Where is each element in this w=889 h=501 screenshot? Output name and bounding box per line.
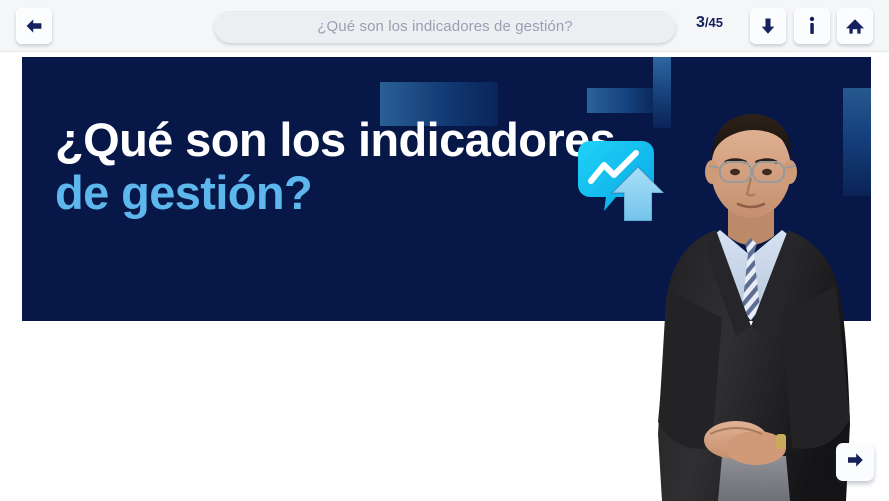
- slide-title: ¿Qué son los indicadores de gestión?: [55, 113, 615, 219]
- arrow-down-icon: [760, 17, 776, 36]
- line-chart-up-arrow-icon: [576, 137, 672, 225]
- decorative-block-right: [843, 88, 871, 196]
- page-counter: 3/45: [696, 14, 723, 32]
- info-button[interactable]: [794, 8, 830, 44]
- search-input[interactable]: ¿Qué son los indicadores de gestión?: [214, 9, 676, 43]
- info-icon: [808, 16, 816, 36]
- decorative-block-horizontal: [587, 88, 653, 113]
- download-button[interactable]: [750, 8, 786, 44]
- back-button[interactable]: [16, 8, 52, 44]
- page-counter-current: 3: [696, 14, 705, 31]
- page-counter-total: /45: [705, 15, 723, 30]
- slide-title-line-1: ¿Qué son los indicadores: [55, 113, 615, 166]
- presentation-viewer: ¿Qué son los indicadores de gestión? 3/4…: [0, 0, 889, 501]
- home-button[interactable]: [837, 8, 873, 44]
- search-placeholder-text: ¿Qué son los indicadores de gestión?: [317, 18, 572, 35]
- home-icon: [845, 17, 865, 36]
- slide-title-line-2: de gestión?: [55, 166, 615, 219]
- arrow-left-icon: [24, 17, 44, 35]
- arrow-right-icon: [844, 451, 866, 474]
- decorative-block-vertical: [653, 57, 671, 128]
- slide-banner: ¿Qué son los indicadores de gestión?: [22, 57, 871, 321]
- top-toolbar: ¿Qué son los indicadores de gestión? 3/4…: [0, 0, 889, 52]
- next-button[interactable]: [836, 443, 874, 481]
